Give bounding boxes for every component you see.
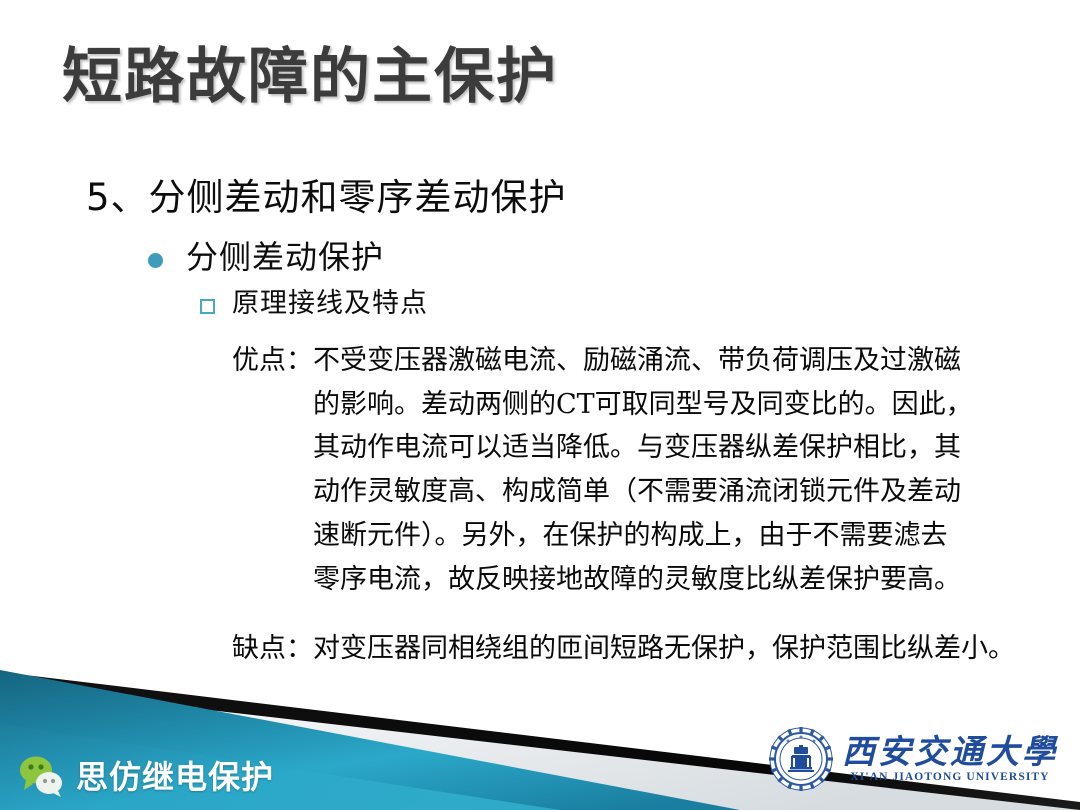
outline-level3: 原理接线及特点 — [198, 287, 1080, 321]
outline-level3-label: 原理接线及特点 — [232, 288, 428, 319]
outline-level2-label: 分侧差动保护 — [186, 238, 384, 276]
xjtu-emblem-icon — [768, 726, 834, 792]
bullet-square-icon — [200, 299, 215, 314]
text-line: 其动作电流可以适当降低。与变压器纵差保护相比，其 — [313, 426, 1022, 470]
paragraph-text: 对变压器同相绕组的匝间短路无保护，保护范围比纵差小。 — [313, 627, 1022, 671]
paragraph-advantages: 优点： 不受变压器激磁电流、励磁涌流、带负荷调压及过激磁 的影响。差动两侧的CT… — [232, 339, 1022, 601]
text-line: 动作灵敏度高、构成简单（不需要涌流闭锁元件及差动 — [313, 470, 1022, 514]
wechat-icon — [18, 753, 66, 797]
bullet-dot-icon — [148, 253, 163, 268]
watermark: 思仿继电保护 — [18, 752, 274, 798]
page-title: 短路故障的主保护 — [62, 44, 558, 110]
outline-level1: 5、分侧差动和零序差动保护 — [86, 175, 1080, 221]
text-line: 零序电流，故反映接地故障的灵敏度比纵差保护要高。 — [313, 558, 1022, 602]
university-wordmark: 西安交通大學 XI'AN JIAOTONG UNIVERSITY — [842, 735, 1058, 784]
university-logo: 西安交通大學 XI'AN JIAOTONG UNIVERSITY — [768, 726, 1058, 792]
university-name-cn: 西安交通大學 — [842, 735, 1058, 768]
watermark-text: 思仿继电保护 — [76, 752, 274, 798]
paragraph-block: 优点： 不受变压器激磁电流、励磁涌流、带负荷调压及过激磁 的影响。差动两侧的CT… — [232, 339, 1022, 671]
text-line: 不受变压器激磁电流、励磁涌流、带负荷调压及过激磁 — [313, 339, 1022, 383]
paragraph-disadvantages: 缺点： 对变压器同相绕组的匝间短路无保护，保护范围比纵差小。 — [232, 627, 1022, 671]
outline-level2: 分侧差动保护 — [148, 237, 1080, 277]
university-name-en: XI'AN JIAOTONG UNIVERSITY — [850, 772, 1049, 784]
slide-body: 5、分侧差动和零序差动保护 分侧差动保护 原理接线及特点 优点： 不受变压器激磁… — [0, 175, 1080, 671]
text-line: 速断元件）。另外，在保护的构成上，由于不需要滤去 — [313, 514, 1022, 558]
paragraph-label: 优点： — [232, 339, 313, 383]
text-line: 对变压器同相绕组的匝间短路无保护，保护范围比纵差小。 — [313, 627, 1022, 671]
presentation-slide: 短路故障的主保护 5、分侧差动和零序差动保护 分侧差动保护 原理接线及特点 优点… — [0, 0, 1080, 810]
text-line: 的影响。差动两侧的CT可取同型号及同变比的。因此， — [313, 383, 1022, 427]
paragraph-label: 缺点： — [232, 627, 313, 671]
paragraph-text: 不受变压器激磁电流、励磁涌流、带负荷调压及过激磁 的影响。差动两侧的CT可取同型… — [313, 339, 1022, 601]
